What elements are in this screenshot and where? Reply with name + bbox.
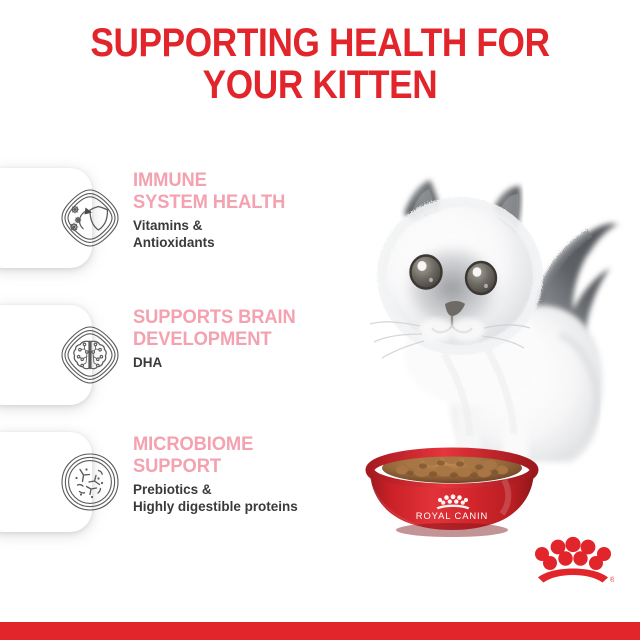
benefit-subtitle: Prebiotics & Highly digestible proteins [133, 482, 323, 517]
registered-mark: ® [610, 576, 614, 584]
benefit-text: MICROBIOME SUPPORT Prebiotics & Highly d… [133, 434, 333, 516]
shield-germs-icon [58, 186, 122, 250]
benefit-block-immune-system-health: IMMUNE SYSTEM HEALTH Vitamins & Antioxid… [0, 168, 330, 278]
bottom-red-bar [0, 622, 640, 640]
benefit-text: IMMUNE SYSTEM HEALTH Vitamins & Antioxid… [133, 170, 333, 252]
brain-icon [58, 323, 122, 387]
benefit-subtitle: Vitamins & Antioxidants [133, 218, 323, 253]
kitten-health-infographic: SUPPORTING HEALTH FOR YOUR KITTEN IMMUNE [0, 0, 640, 640]
benefit-title: SUPPORTS BRAIN DEVELOPMENT [133, 307, 321, 351]
bowl-brand-text: ROYAL CANIN [416, 510, 488, 521]
benefit-subtitle: DHA [133, 355, 323, 372]
benefit-block-supports-brain-development: SUPPORTS BRAIN DEVELOPMENT DHA [0, 305, 330, 415]
kitten-photo [348, 96, 640, 496]
food-bowl: ROYAL CANIN [352, 446, 552, 538]
benefit-title: MICROBIOME SUPPORT [133, 434, 321, 478]
page-title: SUPPORTING HEALTH FOR YOUR KITTEN [82, 22, 557, 107]
royal-canin-crown-logo: ® [532, 532, 614, 588]
benefit-block-microbiome-support: MICROBIOME SUPPORT Prebiotics & Highly d… [0, 432, 330, 542]
benefit-text: SUPPORTS BRAIN DEVELOPMENT DHA [133, 307, 333, 372]
benefit-title: IMMUNE SYSTEM HEALTH [133, 170, 321, 214]
microbiome-petri-dish-icon [58, 450, 122, 514]
